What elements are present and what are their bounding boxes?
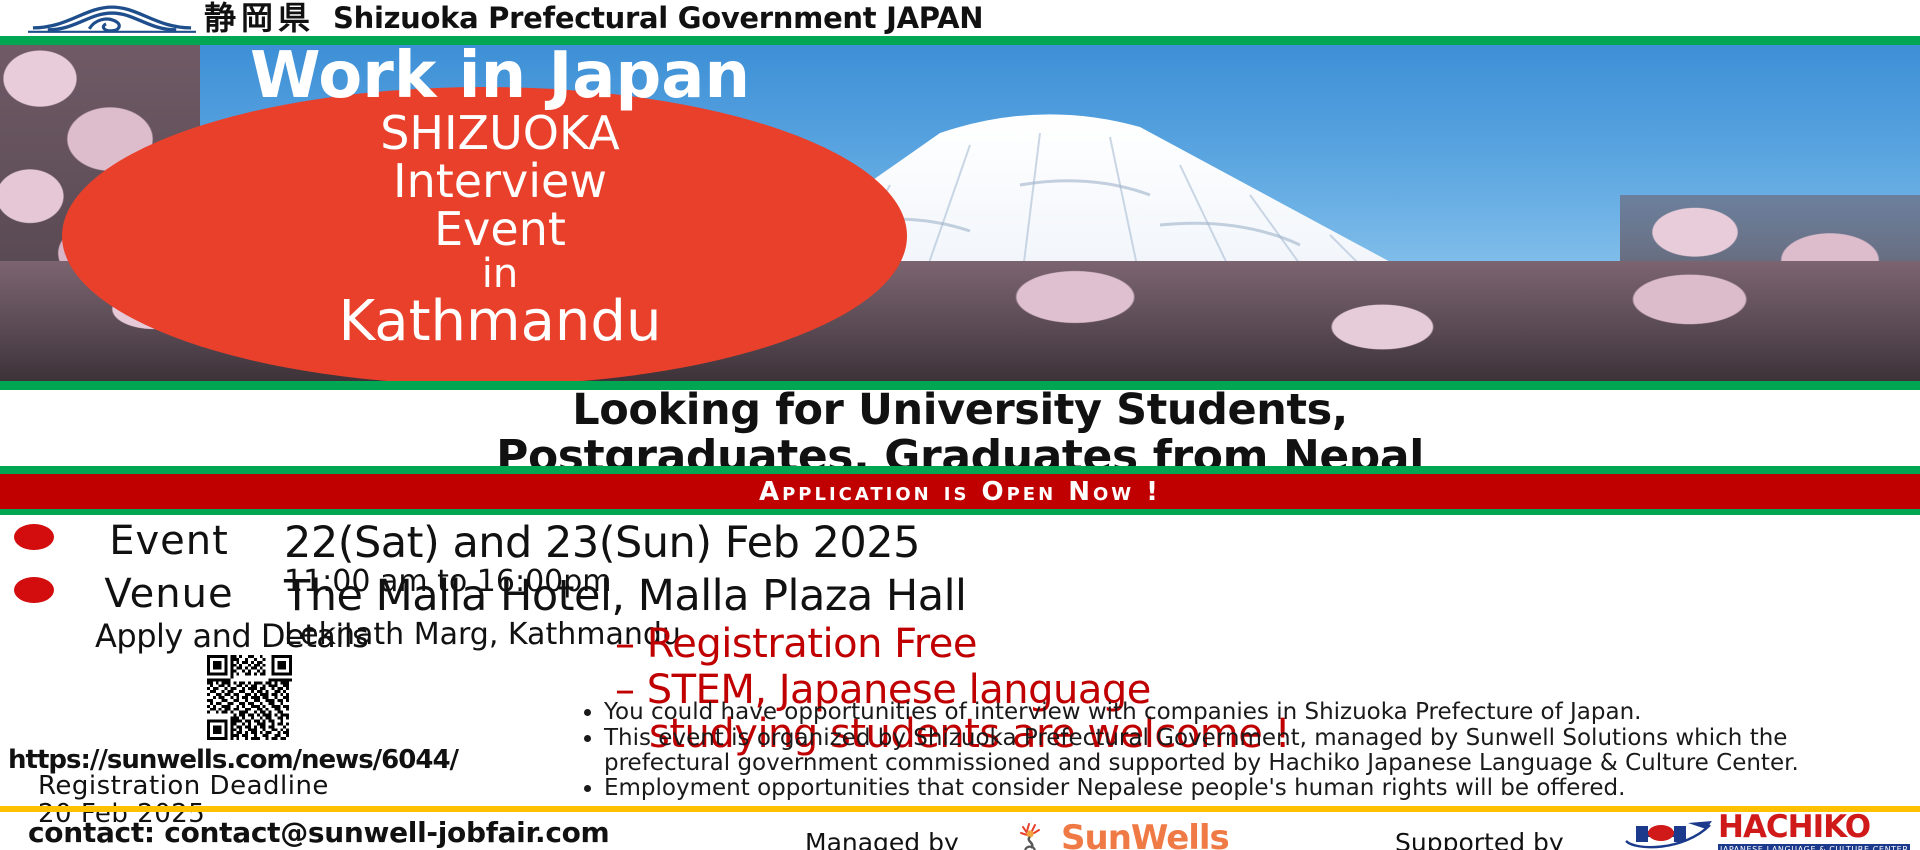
sunwells-logo: SunWells [1015,818,1229,850]
application-open-text: Application is Open Now ! [759,477,1161,507]
application-open-band: Application is Open Now ! [0,474,1920,510]
highlight-text-1: Registration Free [647,621,977,667]
note-item: This event is organized by Shizuoka Pref… [604,726,1918,776]
sunwells-wordmark: SunWells [1061,818,1229,850]
hero-title-line-6: Kathmandu [0,294,1000,350]
prefecture-name-en: Shizuoka Prefectural Government JAPAN [333,1,983,35]
bullet-dot-icon [14,577,54,603]
shizuoka-prefecture-mark-icon [28,1,196,35]
highlight-item-registration-free: – Registration Free [615,622,1290,666]
contact-email[interactable]: contact: contact@sunwell-jobfair.com [28,816,609,849]
note-item: Employment opportunities that consider N… [604,776,1918,801]
managed-by-label: Managed by [805,828,959,850]
prefecture-name-jp: 静岡県 [204,1,315,35]
hero-title-line-1: Work in Japan [0,44,1000,108]
hero-title-line-5: in [0,254,1000,294]
detail-value-venue-name: The Malla Hotel, Malla Plaza Hall [284,571,967,621]
notes-list: You could have opportunities of intervie… [578,700,1918,801]
apply-and-details-title: Apply and Details [95,617,368,655]
supported-by-label: Supported by [1395,828,1564,850]
registration-deadline-label: Registration Deadline [38,772,329,800]
hero-title-line-2: SHIZUOKA [0,110,1000,156]
green-divider-above-band [0,466,1920,474]
page-header: 静岡県 Shizuoka Prefectural Government JAPA… [0,0,1920,36]
green-divider-below-band [0,509,1920,515]
headline-line-1: Looking for University Students, [572,385,1348,435]
notes-block: You could have opportunities of intervie… [578,700,1918,802]
hachiko-logo: HACHIKO JAPANESE LANGUAGE & CULTURE CENT… [1622,812,1910,850]
hachiko-tagline: JAPANESE LANGUAGE & CULTURE CENTER [1718,844,1910,850]
hachiko-mark-icon [1622,817,1718,850]
hero-title-line-4: Event [0,206,1000,252]
note-item: You could have opportunities of intervie… [604,700,1918,725]
hero-title-line-3: Interview [0,158,1000,204]
sunwells-mark-icon [1015,821,1061,850]
detail-label-venue: Venue [54,571,284,617]
detail-label-event: Event [54,518,284,564]
hachiko-wordmark: HACHIKO [1718,812,1910,843]
hero-title-block: Work in Japan SHIZUOKA Interview Event i… [0,44,1000,350]
highlight-dash-1: – [615,621,647,667]
bullet-dot-icon [14,524,54,550]
qr-code-icon[interactable] [152,655,347,740]
detail-value-event-date: 22(Sat) and 23(Sun) Feb 2025 [284,518,920,568]
poster-root: 静岡県 Shizuoka Prefectural Government JAPA… [0,0,1920,850]
